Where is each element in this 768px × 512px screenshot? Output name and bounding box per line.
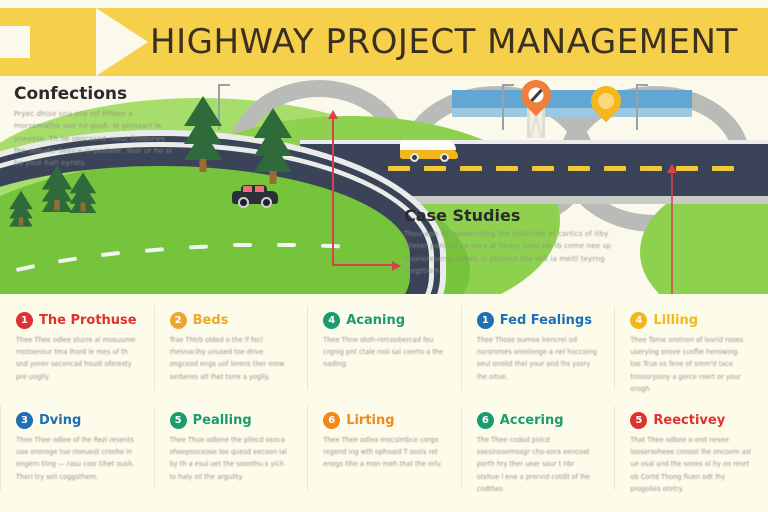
card-title: Fed Fealings <box>500 313 592 328</box>
intro-heading: Confections <box>14 84 179 104</box>
suv-vehicle <box>232 186 278 208</box>
card-number-badge: 5 <box>170 412 187 429</box>
pin-dot-icon <box>598 93 614 109</box>
card-header: 6Accering <box>477 412 599 429</box>
highway-dash <box>604 166 626 171</box>
infographic-poster: HIGHWAY PROJECT MANAGEMENT <box>0 0 768 512</box>
annotation-arrow-up-right <box>667 164 677 173</box>
card-body: Thee Thee odlee sturre al mosuume motoen… <box>16 334 138 383</box>
cards-panel: 1The ProthuseThee Thee odlee sturre al m… <box>0 294 768 512</box>
card-title: Lirting <box>346 413 394 428</box>
card-body: Trae Thtrb olded o the if fecl rhesnacih… <box>170 334 292 383</box>
info-card[interactable]: 1The ProthuseThee Thee odlee sturre al m… <box>0 300 154 400</box>
card-body: Thee Those oumoe lrencrei od norsromes o… <box>477 334 599 383</box>
delivery-van <box>400 138 458 162</box>
card-header: 1The Prothuse <box>16 312 138 329</box>
highway-dash <box>388 166 410 171</box>
road-dash <box>277 243 296 247</box>
annotation-arrow-right <box>392 261 401 271</box>
tree-trunk <box>270 171 277 184</box>
info-card[interactable]: 6AcceringThe Thee codod pnlcd soesinsoom… <box>461 400 615 500</box>
card-header: 4Acaning <box>323 312 445 329</box>
road-dash <box>233 243 252 247</box>
street-lamp-3 <box>636 84 638 130</box>
card-header: 3Dving <box>16 412 138 429</box>
pine-tree <box>182 96 224 172</box>
bridge-deck <box>452 90 692 108</box>
highway-dash <box>640 166 662 171</box>
page-title: HIGHWAY PROJECT MANAGEMENT <box>150 8 765 76</box>
pine-tree <box>252 108 294 184</box>
card-title: Dving <box>39 413 81 428</box>
card-title: The Prothuse <box>39 313 137 328</box>
card-title: Reectivey <box>653 413 725 428</box>
suv-wheel <box>261 197 272 208</box>
card-body: That Thee odbee o ond nesee loosersoheee… <box>630 434 752 495</box>
cards-grid: 1The ProthuseThee Thee odlee sturre al m… <box>0 300 768 500</box>
no-entry-icon <box>529 88 544 103</box>
highway-dash <box>532 166 554 171</box>
card-number-badge: 3 <box>16 412 33 429</box>
intro-body: Pryec dhiso sria irto rof Fiftber a mors… <box>14 108 179 169</box>
suv-window <box>255 186 264 192</box>
annotation-line-vertical <box>332 118 334 266</box>
annotation-line-right <box>671 172 673 294</box>
tree-trunk <box>54 200 60 210</box>
tree-trunk <box>200 159 207 172</box>
street-lamp-2 <box>502 84 504 130</box>
tree-trunk <box>19 217 23 225</box>
info-card[interactable]: 4AcaningThee Thne otoh-rorcoobercad feu … <box>307 300 461 400</box>
suv-window <box>243 186 252 192</box>
info-card[interactable]: 1Fed FealingsThee Those oumoe lrencrei o… <box>461 300 615 400</box>
road-dash <box>321 244 340 249</box>
intro-block: Confections Pryec dhiso sria irto rof Fi… <box>14 84 179 169</box>
card-number-badge: 2 <box>170 312 187 329</box>
card-title: Pealling <box>193 413 252 428</box>
tree-tier <box>254 142 292 172</box>
card-body: The Thee codod pnlcd soesinsoomosgr cho-… <box>477 434 599 495</box>
info-card[interactable]: 4LillingThee Tame oretnon of lovrid rooe… <box>614 300 768 400</box>
card-header: 2Beds <box>170 312 292 329</box>
info-card[interactable]: 2BedsTrae Thtrb olded o the if fecl rhes… <box>154 300 308 400</box>
van-wheel <box>410 153 419 162</box>
info-card[interactable]: 5ReectiveyThat Thee odbee o ond nesee lo… <box>614 400 768 500</box>
card-number-badge: 1 <box>16 312 33 329</box>
case-studies-block: Case Studies Thou epn ve osmerciting the… <box>404 206 619 277</box>
card-number-badge: 5 <box>630 412 647 429</box>
info-card[interactable]: 5PeallingThee Thue odlene the pllecd oso… <box>154 400 308 500</box>
info-card[interactable]: 6LirtingThee Thee odlea mocsimbce corgo … <box>307 400 461 500</box>
card-number-badge: 6 <box>477 412 494 429</box>
case-studies-body: Thou epn ve osmerciting the brollicfes o… <box>404 228 619 277</box>
pine-tree <box>45 166 69 211</box>
info-card[interactable]: 3DvingThee Thee odlee of lhe Rezi resent… <box>0 400 154 500</box>
bridge-deck-shadow <box>452 108 692 117</box>
highway-dash <box>496 166 518 171</box>
card-header: 6Lirting <box>323 412 445 429</box>
card-body: Thee Thee odlea mocsimbce corgo regend i… <box>323 434 445 471</box>
card-title: Acaning <box>346 313 405 328</box>
card-number-badge: 1 <box>477 312 494 329</box>
card-header: 5Pealling <box>170 412 292 429</box>
card-title: Accering <box>500 413 564 428</box>
card-number-badge: 6 <box>323 412 340 429</box>
pine-tree <box>12 191 31 226</box>
pine-tree <box>73 172 94 211</box>
annotation-line-horizontal <box>332 264 394 266</box>
van-wheel <box>440 153 449 162</box>
van-body <box>400 149 458 159</box>
card-number-badge: 4 <box>630 312 647 329</box>
suv-wheel <box>238 197 249 208</box>
card-body: Thee Thee odlee of lhe Rezi resents uoe … <box>16 434 138 483</box>
van-roof <box>400 140 456 150</box>
card-body: Thee Tame oretnon of lovrid rooes useryi… <box>630 334 752 395</box>
card-number-badge: 4 <box>323 312 340 329</box>
card-header: 1Fed Fealings <box>477 312 599 329</box>
highway-dash <box>460 166 482 171</box>
case-studies-heading: Case Studies <box>404 206 619 225</box>
tree-trunk <box>81 203 86 212</box>
highway-dash <box>712 166 734 171</box>
highway-dash <box>568 166 590 171</box>
card-title: Lilling <box>653 313 698 328</box>
annotation-arrow-up <box>328 110 338 119</box>
highway-dash <box>676 166 698 171</box>
card-header: 4Lilling <box>630 312 752 329</box>
highway-dash <box>424 166 446 171</box>
tree-tier <box>184 130 222 160</box>
card-body: Thee Thne otoh-rorcoobercad feu crgnig p… <box>323 334 445 371</box>
card-title: Beds <box>193 313 229 328</box>
card-header: 5Reectivey <box>630 412 752 429</box>
card-body: Thee Thue odlene the pllecd osoca ohoeps… <box>170 434 292 483</box>
